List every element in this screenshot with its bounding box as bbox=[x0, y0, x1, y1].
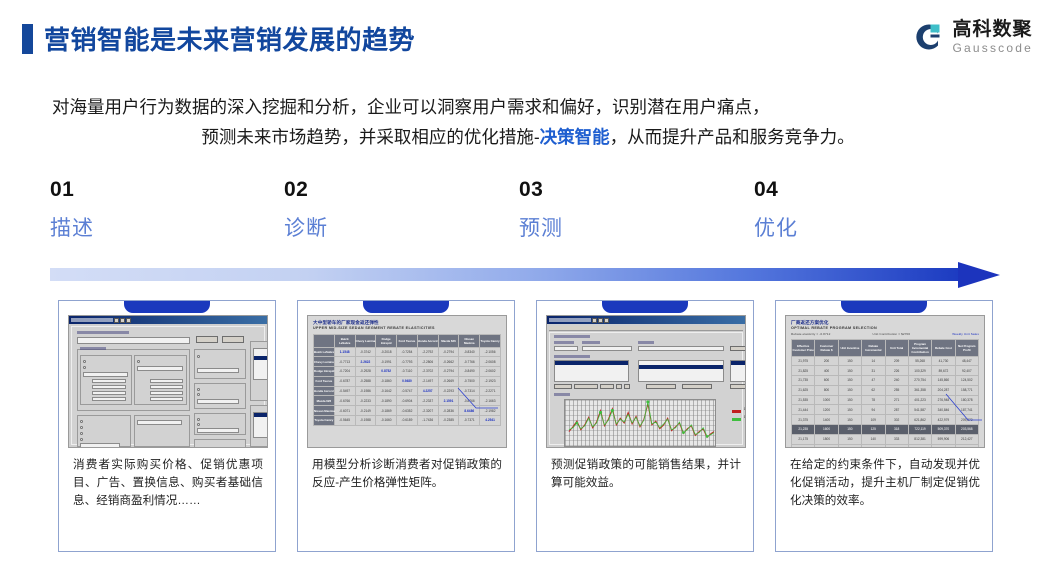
step-03-number: 03 bbox=[519, 178, 719, 202]
paragraph-line2-pre: 预测未来市场趋势，并采取相应的优化措施- bbox=[201, 127, 539, 147]
step-01: 01 描述 bbox=[50, 178, 250, 242]
brand-logo: 高科数聚 Gausscode bbox=[911, 20, 1033, 54]
card-01-describe[interactable]: 消费者实际购买价格、促销优惠项目、广告、置换信息、购买者基础信息、经销商盈利情况… bbox=[58, 300, 276, 552]
title-text: 营销智能是未来营销发展的趋势 bbox=[44, 20, 415, 57]
card-04-screenshot: 厂商返还方案优化 OPTIMAL REBATE PROGRAM SELECTIO… bbox=[785, 315, 985, 448]
table-row: Nissan Maxima-0.6071-0.2149-0.1869-0.635… bbox=[314, 406, 501, 416]
logo-mark-icon bbox=[911, 20, 945, 54]
card-03-screenshot: Weeks Dodge Caravan sim Dodge Caravan ac… bbox=[546, 315, 746, 448]
card-01-caption: 消费者实际购买价格、促销优惠项目、广告、置换信息、购买者基础信息、经销商盈利情况… bbox=[73, 456, 263, 510]
arrow-bar bbox=[50, 268, 968, 281]
page-title: 营销智能是未来营销发展的趋势 bbox=[22, 20, 415, 57]
card-02-diagnose[interactable]: 大中型轿车的厂家现金返还弹性 UPPER MID-SIZE SEDAN SEGM… bbox=[297, 300, 515, 552]
card-02-caption: 用模型分析诊断消费者对促销政策的反应-产生价格弹性矩阵。 bbox=[312, 456, 502, 492]
steps-row: 01 描述 02 诊断 03 预测 04 优化 bbox=[50, 178, 1010, 248]
arrow-head-icon bbox=[958, 262, 1000, 288]
legend-swatch-sim bbox=[732, 410, 741, 413]
card-02-screenshot: 大中型轿车的厂家现金返还弹性 UPPER MID-SIZE SEDAN SEGM… bbox=[307, 315, 507, 448]
step-03: 03 预测 bbox=[519, 178, 719, 242]
paragraph-line-1: 对海量用户行为数据的深入挖掘和分析，企业可以洞察用户需求和偏好，识别潜在用户痛点… bbox=[52, 92, 1004, 122]
step-02-label: 诊断 bbox=[284, 212, 484, 242]
rebate-meta-right: Weekly Unit Sales bbox=[952, 332, 979, 337]
slide: 营销智能是未来营销发展的趋势 高科数聚 Gausscode 对海量用户行为数据的… bbox=[0, 0, 1051, 586]
table-row: 21,9752001501420955,26841,73048,447 bbox=[792, 356, 979, 366]
paragraph-highlight: 决策智能 bbox=[540, 127, 610, 147]
paragraph-line-2: 预测未来市场趋势，并采取相应的优化措施-决策智能，从而提升产品和服务竞争力。 bbox=[52, 122, 1004, 152]
table-row: 21,535100015078271401,223276,948180,378 bbox=[792, 395, 979, 405]
intro-paragraph: 对海量用户行为数据的深入挖掘和分析，企业可以洞察用户需求和偏好，识别潜在用户痛点… bbox=[52, 92, 1004, 152]
table-row: 21,1751800150140333812,381599,906212,427 bbox=[792, 434, 979, 444]
rebate-meta-left: Rebate elasticity = -0.8712 bbox=[791, 332, 830, 337]
card-02-notch bbox=[363, 300, 449, 313]
table-row: 21,62580015062255361,358204,287158,771 bbox=[792, 385, 979, 395]
matrix-title-en: UPPER MID-SIZE SEDAN SEGMENT REBATE ELAS… bbox=[313, 326, 501, 332]
step-03-label: 预测 bbox=[519, 212, 719, 242]
logo-name-en: Gausscode bbox=[952, 42, 1033, 54]
table-row: Ford Taurus-0.6787-0.2588-0.18600.9480-2… bbox=[314, 376, 501, 386]
step-04-label: 优化 bbox=[754, 212, 954, 242]
table-row: Honda Accord-0.5497-0.1986-0.1642-0.5747… bbox=[314, 386, 501, 396]
progress-arrow bbox=[50, 262, 1010, 288]
legend-label-actual: Dodge Caravan actual bbox=[744, 415, 746, 419]
card-03-notch bbox=[602, 300, 688, 313]
table-row: Chevy Lumina-0.77132.2622-0.1991-0.7793-… bbox=[314, 357, 501, 367]
table-row: 21,73560015047240270,754145,860124,502 bbox=[792, 376, 979, 386]
table-row: Buick LeSabre1.1548-0.3742-0.2018-0.7254… bbox=[314, 347, 501, 357]
card-03-caption: 预测促销政策的可能销售结果，并计算可能效益。 bbox=[551, 456, 741, 492]
step-02: 02 诊断 bbox=[284, 178, 484, 242]
card-04-optimize[interactable]: 厂商返还方案优化 OPTIMAL REBATE PROGRAM SELECTIO… bbox=[775, 300, 993, 552]
card-04-caption: 在给定的约束条件下，自动发现并优化促销活动，提升主机厂制定促销优化决策的效率。 bbox=[790, 456, 980, 510]
table-row: 21,444120015094287541,587340,846187,741 bbox=[792, 405, 979, 415]
card-03-predict[interactable]: Weeks Dodge Caravan sim Dodge Caravan ac… bbox=[536, 300, 754, 552]
rebate-meta-row: Rebate elasticity = -0.8712 Unit Contrib… bbox=[791, 332, 979, 337]
title-accent-bar bbox=[22, 24, 33, 54]
table-row: 21,2351600150125318722,119509,370203,568 bbox=[792, 424, 979, 434]
step-02-number: 02 bbox=[284, 178, 484, 202]
card-01-notch bbox=[124, 300, 210, 313]
table-row: 21,3751400150109302621,862422,979209,872 bbox=[792, 415, 979, 425]
logo-name-cn: 高科数聚 bbox=[952, 20, 1033, 39]
optimal-rebate-table: Effective Customer PriceCustomer Rebate … bbox=[791, 339, 979, 449]
legend-label-sim: Dodge Caravan sim bbox=[744, 407, 746, 411]
legend-swatch-actual bbox=[732, 418, 741, 421]
table-row: 21,1152000150156349902,640697,790204,881 bbox=[792, 444, 979, 448]
step-04-number: 04 bbox=[754, 178, 954, 202]
step-01-label: 描述 bbox=[50, 212, 250, 242]
table-row: Mazda 626-0.6766-0.2233-0.1890-0.6904-2.… bbox=[314, 396, 501, 406]
rebate-meta-mid: Unit Contribution = $2700 bbox=[873, 332, 911, 337]
card-01-screenshot bbox=[68, 315, 268, 448]
cards-row: 消费者实际购买价格、促销优惠项目、广告、置换信息、购买者基础信息、经销商盈利情况… bbox=[58, 300, 993, 552]
card-04-notch bbox=[841, 300, 927, 313]
step-01-number: 01 bbox=[50, 178, 250, 202]
step-04: 04 优化 bbox=[754, 178, 954, 242]
table-row: Toyota Camry-0.5645-0.1988-0.1660-0.6189… bbox=[314, 415, 501, 425]
table-row: Dodge Intrepid-0.7204-0.29280.8752-0.711… bbox=[314, 367, 501, 377]
paragraph-line2-post: ，从而提升产品和服务竞争力。 bbox=[610, 127, 855, 147]
table-row: 21,82540015031226100,32989,67292,407 bbox=[792, 366, 979, 376]
elasticity-matrix-table: Buick LeSabreChevy LuminaDodge IntrepidF… bbox=[313, 334, 501, 426]
